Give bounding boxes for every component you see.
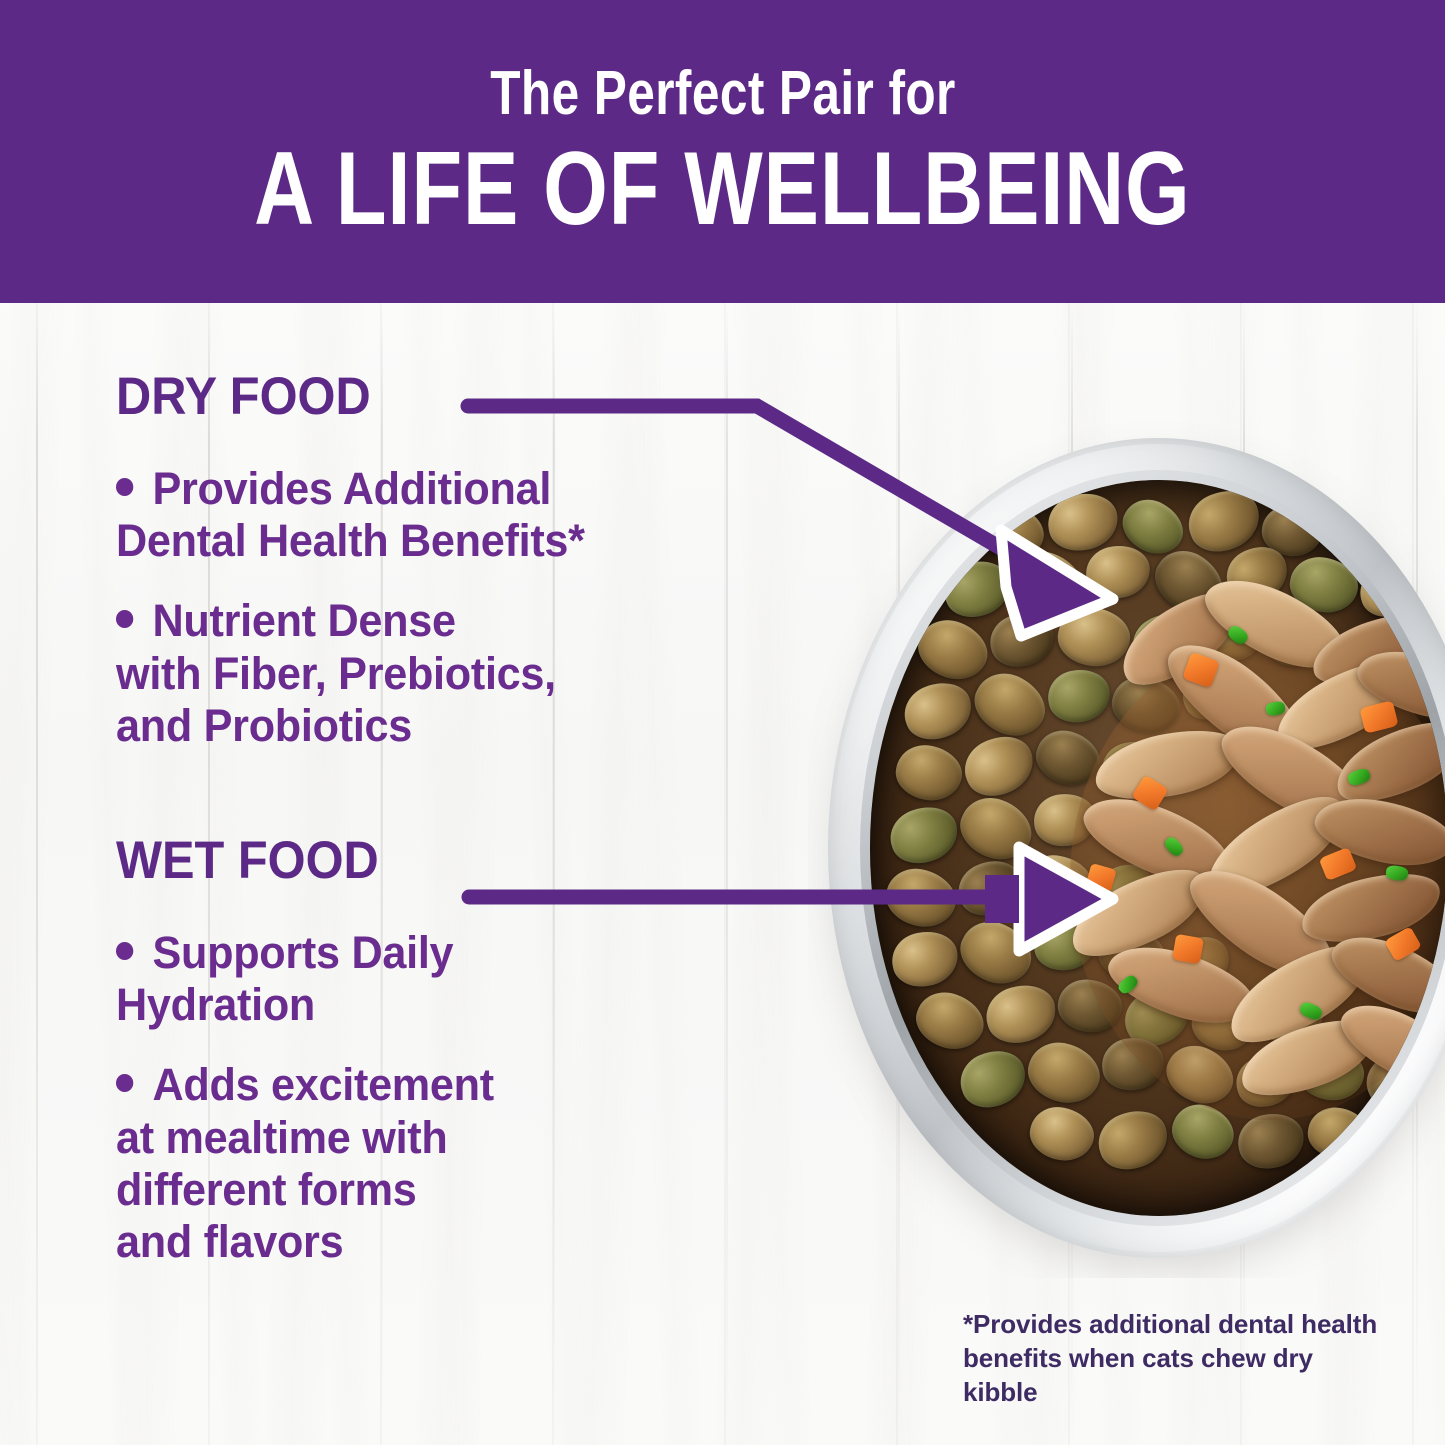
bullet-dot-icon (116, 478, 133, 496)
footnote-line-2: benefits when cats chew dry kibble (963, 1343, 1313, 1407)
plank-seam (898, 303, 900, 1445)
bullet-line: and flavors (116, 1216, 343, 1267)
header-banner: The Perfect Pair for A LIFE OF WELLBEING (0, 0, 1445, 303)
advertisement-canvas: The Perfect Pair for A LIFE OF WELLBEING (0, 0, 1445, 1445)
dry-food-bullet-2: Nutrient Dense with Fiber, Prebiotics, a… (116, 595, 778, 752)
bullet-dot-icon (116, 1074, 133, 1092)
footnote-disclaimer: *Provides additional dental health benef… (963, 1308, 1393, 1409)
bullet-line: and Probiotics (116, 700, 412, 751)
bullet-line: Adds excitement (152, 1059, 493, 1110)
bullet-line: Supports Daily (152, 927, 453, 978)
bullet-line: Provides Additional (152, 463, 551, 514)
bullet-line: at mealtime with (116, 1112, 447, 1163)
plank-seam (1071, 303, 1073, 1445)
bullet-dot-icon (116, 610, 133, 628)
plank-seam (36, 303, 38, 1445)
bullet-line: Hydration (116, 979, 315, 1030)
dry-food-bullet-1: Provides Additional Dental Health Benefi… (116, 463, 778, 567)
wet-food-bullet-2: Adds excitement at mealtime with differe… (116, 1059, 778, 1268)
wet-food-heading: WET FOOD (116, 834, 751, 887)
bullet-line: with Fiber, Prebiotics, (116, 648, 556, 699)
header-eyebrow-text: The Perfect Pair for (490, 63, 956, 125)
header-title-text: A LIFE OF WELLBEING (254, 137, 1191, 241)
benefits-column: DRY FOOD Provides Additional Dental Heal… (116, 370, 806, 1268)
bullet-line: Nutrient Dense (152, 595, 455, 646)
bullet-dot-icon (116, 942, 133, 960)
wet-food-bullet-1: Supports Daily Hydration (116, 927, 778, 1031)
footnote-line-1: *Provides additional dental health (963, 1309, 1377, 1339)
bullet-line: different forms (116, 1164, 417, 1215)
plank-seam (1416, 303, 1418, 1445)
plank-seam (1243, 303, 1245, 1445)
bullet-line: Dental Health Benefits* (116, 515, 585, 566)
dry-food-heading: DRY FOOD (116, 370, 751, 423)
